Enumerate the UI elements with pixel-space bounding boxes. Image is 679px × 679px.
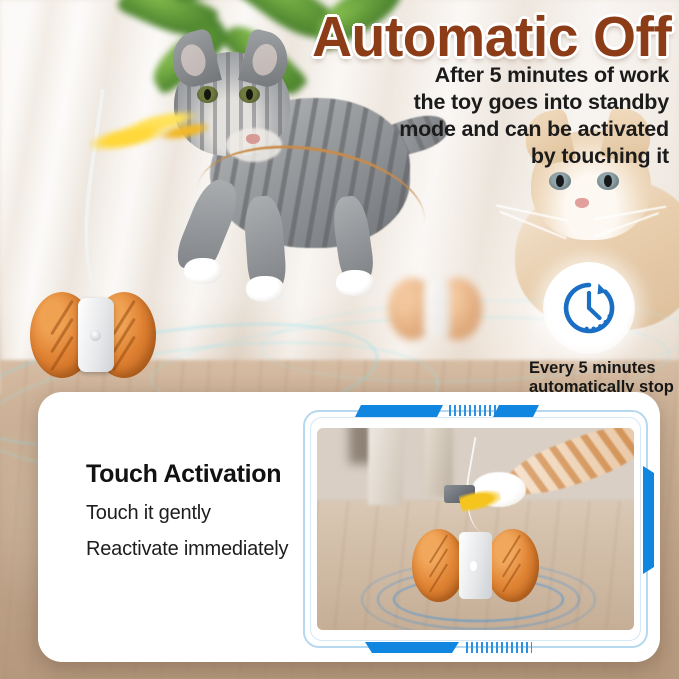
cat-eye-right [597,172,619,190]
hud-tab-bottom-left [365,642,459,653]
inset-cat-toy [412,529,539,602]
description-text: After 5 minutes of work the toy goes int… [399,62,669,170]
inset-photo [317,428,634,630]
toy-wheel-right [486,529,539,602]
touch-activation-panel: Touch Activation Touch it gently Reactiv… [38,392,660,662]
cat-eye-right [239,86,260,103]
cat-paw [336,270,374,296]
cat-toy-product [30,292,160,378]
cat-nose [575,198,589,208]
cat-ear-left [166,27,222,90]
description-line: by touching it [399,143,669,170]
cat-ear-right [238,27,294,90]
cat-paw [246,276,284,302]
toy-wheel-left [412,529,465,602]
device-photo-frame [303,410,648,648]
hud-tab-right-side [643,466,654,574]
panel-text-block: Touch Activation Touch it gently Reactiv… [86,460,336,561]
inset-table-leg [368,428,403,505]
hud-tab-top-left [355,405,443,417]
description-line: the toy goes into standby [399,89,669,116]
panel-line-2: Reactivate immediately [86,538,336,561]
description-line: mode and can be activated [399,116,669,143]
badge-circle [543,262,635,354]
clock-arrow-icon [558,277,620,339]
panel-line-1: Touch it gently [86,502,336,525]
product-marketing-image: Automatic Off After 5 minutes of work th… [0,0,679,679]
description-line: After 5 minutes of work [399,62,669,89]
timer-badge: Every 5 minutes automatically stop [543,262,639,397]
hud-tick-strip-bottom [466,642,532,653]
page-title: Automatic Off [312,8,671,66]
hud-tab-top-right [493,405,539,417]
panel-title: Touch Activation [86,460,336,489]
cat-paw [184,258,222,284]
cat-nose [246,134,260,144]
cat-eye-left [549,172,571,190]
caption-line-1: Every 5 minutes [529,359,639,378]
toy-center-hub [459,532,492,599]
cat-toy-background [388,278,484,340]
toy-center-hub [78,298,114,372]
